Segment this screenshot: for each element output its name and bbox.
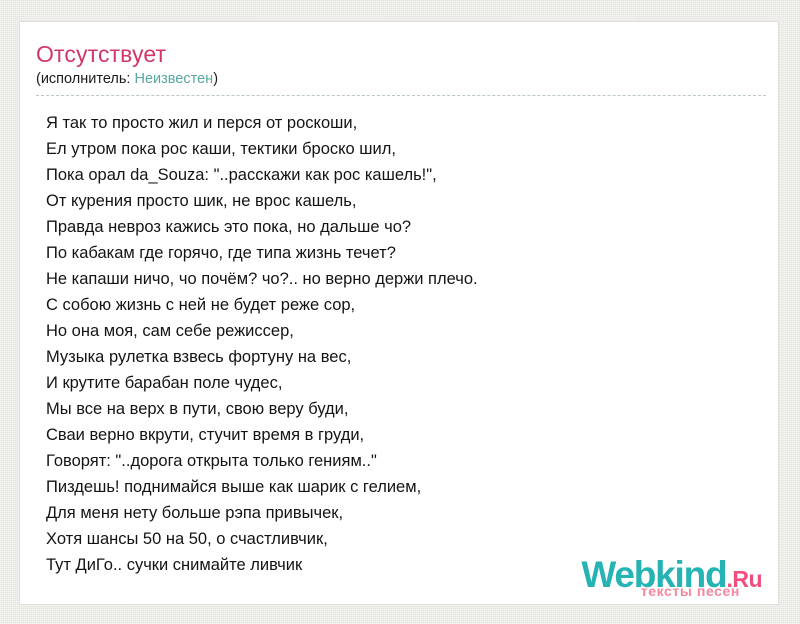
lyrics-line: Пиздешь! поднимайся выше как шарик с гел… xyxy=(46,474,762,500)
lyrics-line: Сваи верно вкрути, стучит время в груди, xyxy=(46,422,762,448)
lyrics-line: Хотя шансы 50 на 50, о счастливчик, xyxy=(46,526,762,552)
artist-link[interactable]: Неизвестен xyxy=(134,71,213,87)
lyrics-line: Пока орал da_Souza: "..расскажи как рос … xyxy=(46,162,762,188)
lyrics-line: Я так то просто жил и перся от роскоши, xyxy=(46,110,762,136)
lyrics-line: Не капаши ничо, чо почём? чо?.. но верно… xyxy=(46,266,762,292)
lyrics-line: Говорят: "..дорога открыта только гениям… xyxy=(46,448,762,474)
site-logo[interactable]: Webkind.Ru тексты песен xyxy=(581,556,762,598)
artist-prefix-label: (исполнитель: xyxy=(36,71,134,87)
lyrics-block: Я так то просто жил и перся от роскоши, … xyxy=(36,96,762,578)
lyrics-line: Для меня нету больше рэпа привычек, xyxy=(46,500,762,526)
lyrics-line: И крутите барабан поле чудес, xyxy=(46,370,762,396)
page-title: Отсутствует xyxy=(36,42,762,67)
lyrics-line: Музыка рулетка взвесь фортуну на вес, xyxy=(46,344,762,370)
artist-line: (исполнитель: Неизвестен) xyxy=(36,70,762,95)
content-area: Отсутствует (исполнитель: Неизвестен) Я … xyxy=(20,22,778,578)
lyrics-line: Ел утром пока рос каши, тектики броско ш… xyxy=(46,136,762,162)
lyrics-line: Правда невроз кажись это пока, но дальше… xyxy=(46,214,762,240)
lyrics-line: По кабакам где горячо, где типа жизнь те… xyxy=(46,240,762,266)
lyrics-line: Но она моя, сам себе режиссер, xyxy=(46,318,762,344)
lyrics-line: Мы все на верх в пути, свою веру буди, xyxy=(46,396,762,422)
artist-suffix-label: ) xyxy=(213,71,218,87)
content-panel: Отсутствует (исполнитель: Неизвестен) Я … xyxy=(20,22,778,604)
lyrics-line: С собою жизнь с ней не будет реже сор, xyxy=(46,292,762,318)
lyrics-line: От курения просто шик, не врос кашель, xyxy=(46,188,762,214)
